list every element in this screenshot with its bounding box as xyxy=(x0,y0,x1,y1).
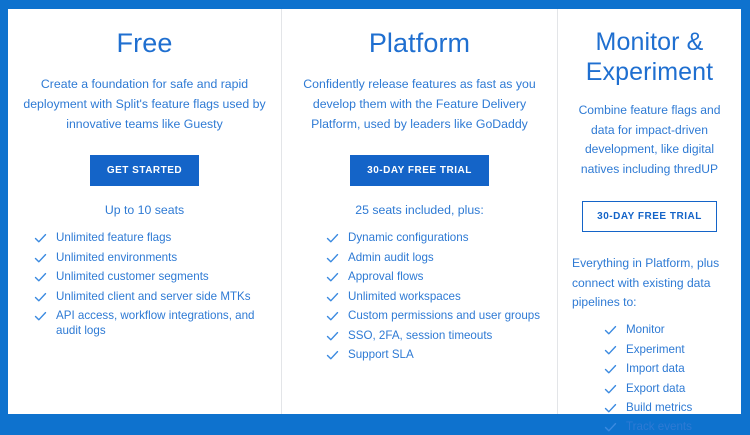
seats-line-platform: 25 seats included, plus: xyxy=(282,203,557,217)
feature-label: SSO, 2FA, session timeouts xyxy=(348,329,492,343)
plan-column-free: Free Create a foundation for safe and ra… xyxy=(8,9,281,414)
check-icon xyxy=(326,349,339,362)
pricing-table: Free Create a foundation for safe and ra… xyxy=(8,9,741,414)
list-item: Unlimited feature flags xyxy=(34,231,281,245)
check-icon xyxy=(34,232,47,245)
list-item: SSO, 2FA, session timeouts xyxy=(326,329,557,343)
plan-description-platform: Confidently release features as fast as … xyxy=(294,75,545,135)
list-item: Unlimited workspaces xyxy=(326,290,557,304)
feature-label: Admin audit logs xyxy=(348,251,434,265)
feature-label: Support SLA xyxy=(348,348,414,362)
cta-wrapper-platform: 30-DAY FREE TRIAL xyxy=(282,155,557,186)
feature-label: Export data xyxy=(626,382,685,396)
check-icon xyxy=(326,291,339,304)
check-icon xyxy=(34,271,47,284)
check-icon xyxy=(604,383,617,396)
list-item: Support SLA xyxy=(326,348,557,362)
list-item: API access, workflow integrations, and a… xyxy=(34,309,281,338)
feature-list-free: Unlimited feature flags Unlimited enviro… xyxy=(34,231,281,338)
list-item: Unlimited environments xyxy=(34,251,281,265)
list-item: Export data xyxy=(604,382,741,396)
free-trial-button-platform[interactable]: 30-DAY FREE TRIAL xyxy=(350,155,489,186)
check-icon xyxy=(604,324,617,337)
list-item: Unlimited client and server side MTKs xyxy=(34,290,281,304)
check-icon xyxy=(34,252,47,265)
list-item: Approval flows xyxy=(326,270,557,284)
check-icon xyxy=(326,330,339,343)
feature-label: Experiment xyxy=(626,343,685,357)
list-item: Experiment xyxy=(604,343,741,357)
plan-description-monitor: Combine feature flags and data for impac… xyxy=(570,101,729,179)
feature-list-platform: Dynamic configurations Admin audit logs … xyxy=(326,231,557,362)
check-icon xyxy=(604,344,617,357)
list-item: Import data xyxy=(604,362,741,376)
check-icon xyxy=(34,310,47,323)
feature-label: API access, workflow integrations, and a… xyxy=(56,309,281,338)
feature-label: Unlimited feature flags xyxy=(56,231,171,245)
feature-label: Dynamic configurations xyxy=(348,231,469,245)
get-started-button[interactable]: GET STARTED xyxy=(90,155,199,186)
feature-list-monitor: Monitor Experiment Import data Export da… xyxy=(604,323,741,435)
list-item: Custom permissions and user groups xyxy=(326,309,557,323)
list-item: Dynamic configurations xyxy=(326,231,557,245)
feature-label: Monitor xyxy=(626,323,665,337)
check-icon xyxy=(604,421,617,434)
feature-label: Unlimited workspaces xyxy=(348,290,461,304)
plan-title-platform: Platform xyxy=(296,27,543,59)
feature-label: Build metrics xyxy=(626,401,692,415)
check-icon xyxy=(326,271,339,284)
feature-label: Import data xyxy=(626,362,685,376)
list-item: Unlimited customer segments xyxy=(34,270,281,284)
plan-title-free: Free xyxy=(22,27,267,59)
list-item: Build metrics xyxy=(604,401,741,415)
cta-wrapper-free: GET STARTED xyxy=(8,155,281,186)
plan-title-monitor: Monitor & Experiment xyxy=(564,27,735,87)
check-icon xyxy=(326,232,339,245)
check-icon xyxy=(604,363,617,376)
seats-line-free: Up to 10 seats xyxy=(8,203,281,217)
list-item: Monitor xyxy=(604,323,741,337)
check-icon xyxy=(326,310,339,323)
feature-label: Custom permissions and user groups xyxy=(348,309,540,323)
free-trial-button-monitor[interactable]: 30-DAY FREE TRIAL xyxy=(582,201,717,232)
feature-label: Approval flows xyxy=(348,270,423,284)
plan-column-monitor: Monitor & Experiment Combine feature fla… xyxy=(557,9,741,414)
check-icon xyxy=(326,252,339,265)
feature-label: Unlimited environments xyxy=(56,251,177,265)
everything-in-platform-note: Everything in Platform, plus connect wit… xyxy=(572,254,727,313)
feature-label: Unlimited client and server side MTKs xyxy=(56,290,251,304)
cta-wrapper-monitor: 30-DAY FREE TRIAL xyxy=(558,201,741,232)
feature-label: Unlimited customer segments xyxy=(56,270,209,284)
list-item: Admin audit logs xyxy=(326,251,557,265)
check-icon xyxy=(34,291,47,304)
check-icon xyxy=(604,402,617,415)
plan-column-platform: Platform Confidently release features as… xyxy=(281,9,557,414)
plan-description-free: Create a foundation for safe and rapid d… xyxy=(20,75,269,135)
